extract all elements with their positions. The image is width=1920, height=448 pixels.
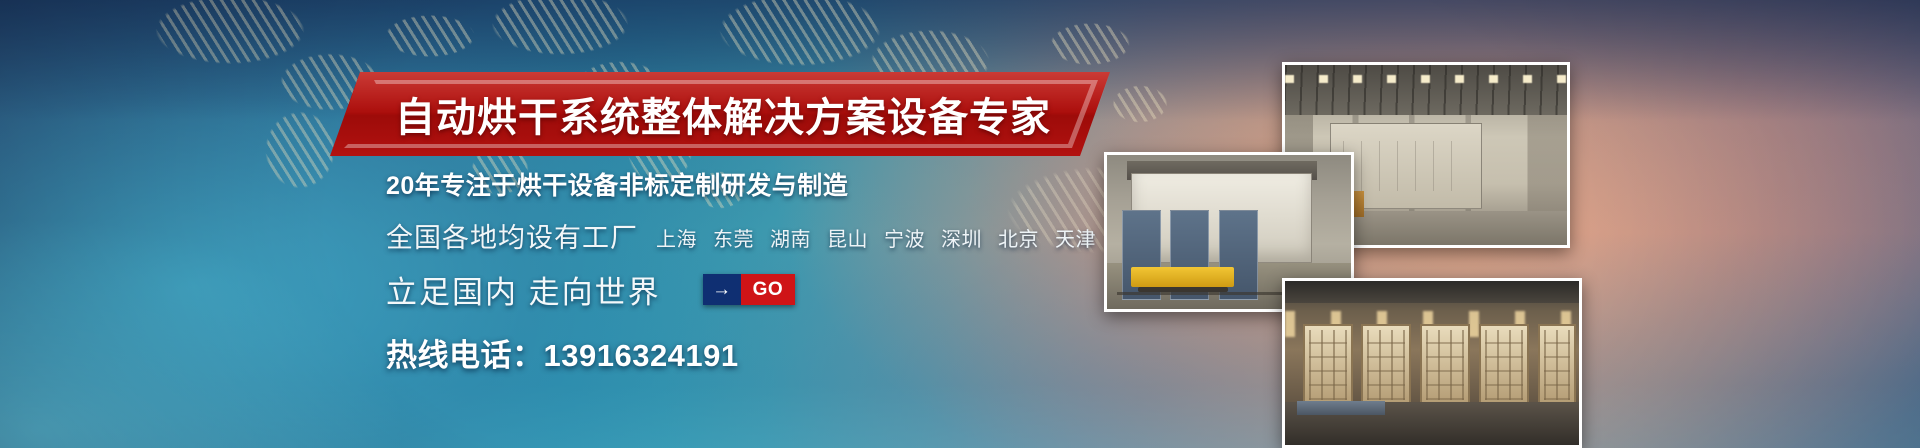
hall-ceiling-lights: [1285, 75, 1567, 83]
racks-roof: [1285, 281, 1579, 303]
hall-roof: [1285, 65, 1567, 115]
arrow-right-icon: →: [703, 274, 741, 305]
promo-banner: 自动烘干系统整体解决方案设备专家 20年专注于烘干设备非标定制研发与制造 全国各…: [0, 0, 1920, 448]
rack-unit: [1420, 324, 1470, 406]
drying-racks-photo: [1282, 278, 1582, 448]
city-item: 东莞: [713, 223, 754, 252]
factories-label: 全国各地均设有工厂: [386, 216, 638, 255]
subtitle-text: 20年专注于烘干设备非标定制研发与制造: [386, 166, 1146, 202]
slogan-text: 立足国内 走向世界: [386, 267, 661, 312]
city-item: 深圳: [941, 223, 982, 252]
go-button-label: GO: [741, 274, 796, 305]
rack-unit: [1538, 324, 1576, 406]
city-list: 上海 东莞 湖南 昆山 宁波 深圳 北京 天津: [656, 223, 1096, 255]
slogan-row: 立足国内 走向世界 → GO: [386, 267, 1146, 312]
copy-block: 20年专注于烘干设备非标定制研发与制造 全国各地均设有工厂 上海 东莞 湖南 昆…: [386, 166, 1146, 375]
go-button[interactable]: → GO: [703, 274, 796, 305]
racks-cart: [1297, 401, 1385, 416]
rack-unit: [1479, 324, 1529, 406]
city-item: 昆山: [827, 223, 868, 252]
rack-unit: [1361, 324, 1411, 406]
city-item: 湖南: [770, 223, 811, 252]
page-title: 自动烘干系统整体解决方案设备专家: [330, 72, 1110, 156]
transfer-cart: [1131, 267, 1233, 287]
city-item: 北京: [998, 223, 1039, 252]
hotline-text: 热线电话：13916324191: [386, 330, 1146, 375]
headline-ribbon: 自动烘干系统整体解决方案设备专家: [330, 72, 1110, 156]
factories-row: 全国各地均设有工厂 上海 东莞 湖南 昆山 宁波 深圳 北京 天津: [386, 216, 1146, 255]
city-item: 上海: [656, 223, 697, 252]
city-item: 宁波: [884, 223, 925, 252]
rack-unit: [1303, 324, 1353, 406]
city-item: 天津: [1055, 223, 1096, 252]
